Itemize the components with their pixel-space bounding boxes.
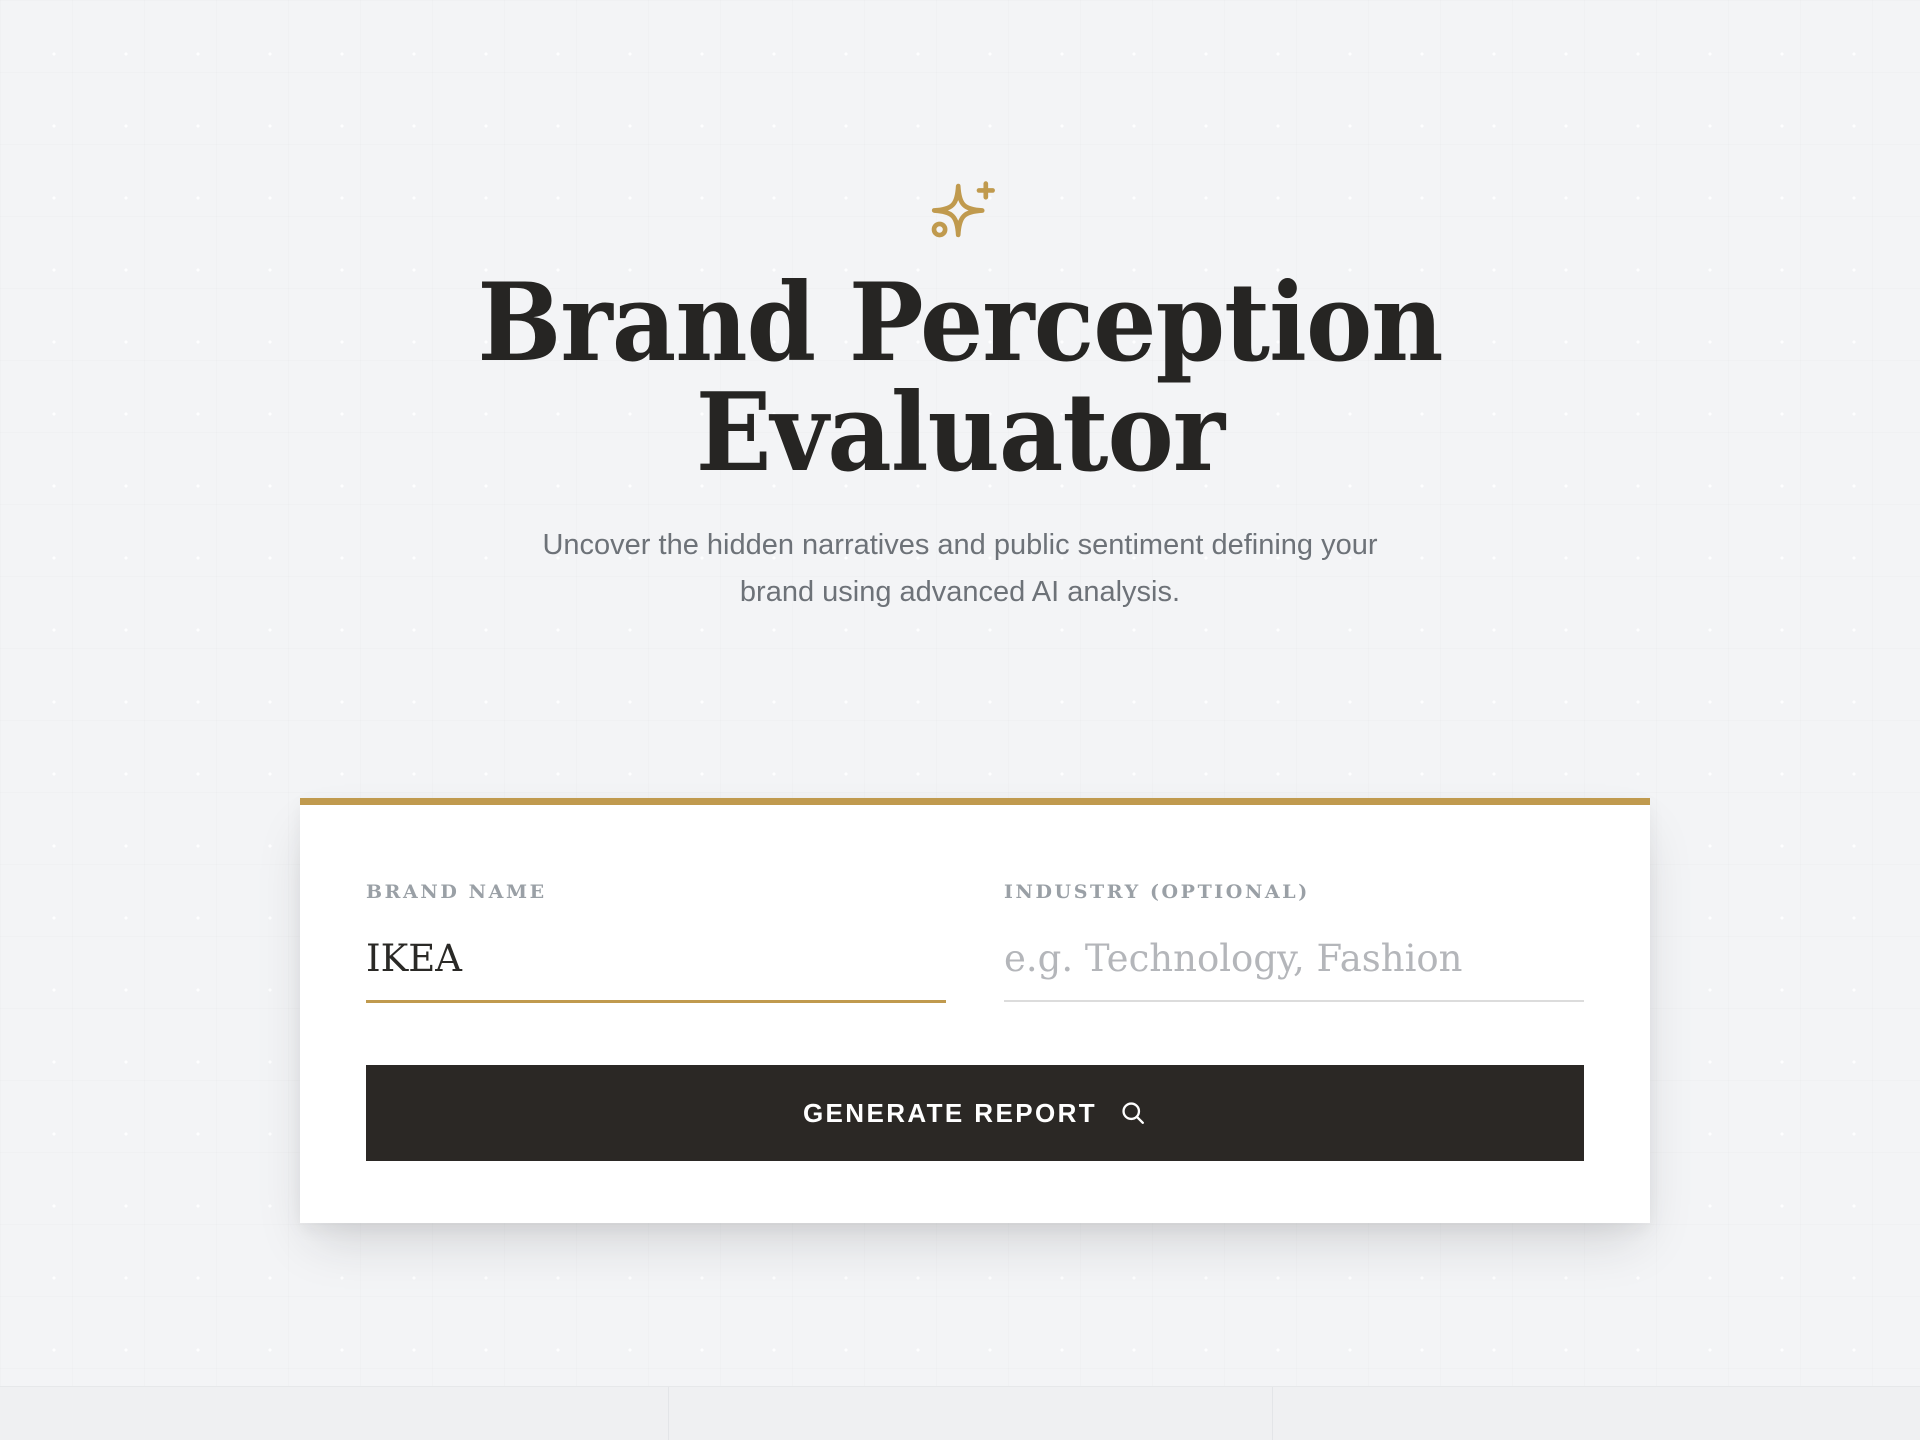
hero-section: Brand Perception Evaluator Uncover the h… [0,170,1920,616]
search-icon [1119,1099,1147,1127]
industry-field-group: INDUSTRY (OPTIONAL) [1004,881,1584,1003]
brand-name-label: BRAND NAME [366,881,946,903]
page-title-line-2: Evaluator [696,370,1224,496]
generate-report-label: GENERATE REPORT [803,1098,1097,1129]
page-title-line-1: Brand Perception [477,260,1442,386]
sparkle-icon [0,170,1920,256]
page-subtitle: Uncover the hidden narratives and public… [510,522,1410,616]
brand-name-input[interactable] [366,937,946,1003]
industry-label: INDUSTRY (OPTIONAL) [1004,881,1584,903]
page-title: Brand Perception Evaluator [472,268,1447,488]
form-field-row: BRAND NAME INDUSTRY (OPTIONAL) [366,881,1584,1003]
industry-input[interactable] [1004,937,1584,1002]
brand-evaluation-form-card: BRAND NAME INDUSTRY (OPTIONAL) GENERATE … [300,798,1650,1223]
page-root: Brand Perception Evaluator Uncover the h… [0,0,1920,1440]
generate-report-button[interactable]: GENERATE REPORT [366,1065,1584,1161]
brand-name-field-group: BRAND NAME [366,881,946,1003]
